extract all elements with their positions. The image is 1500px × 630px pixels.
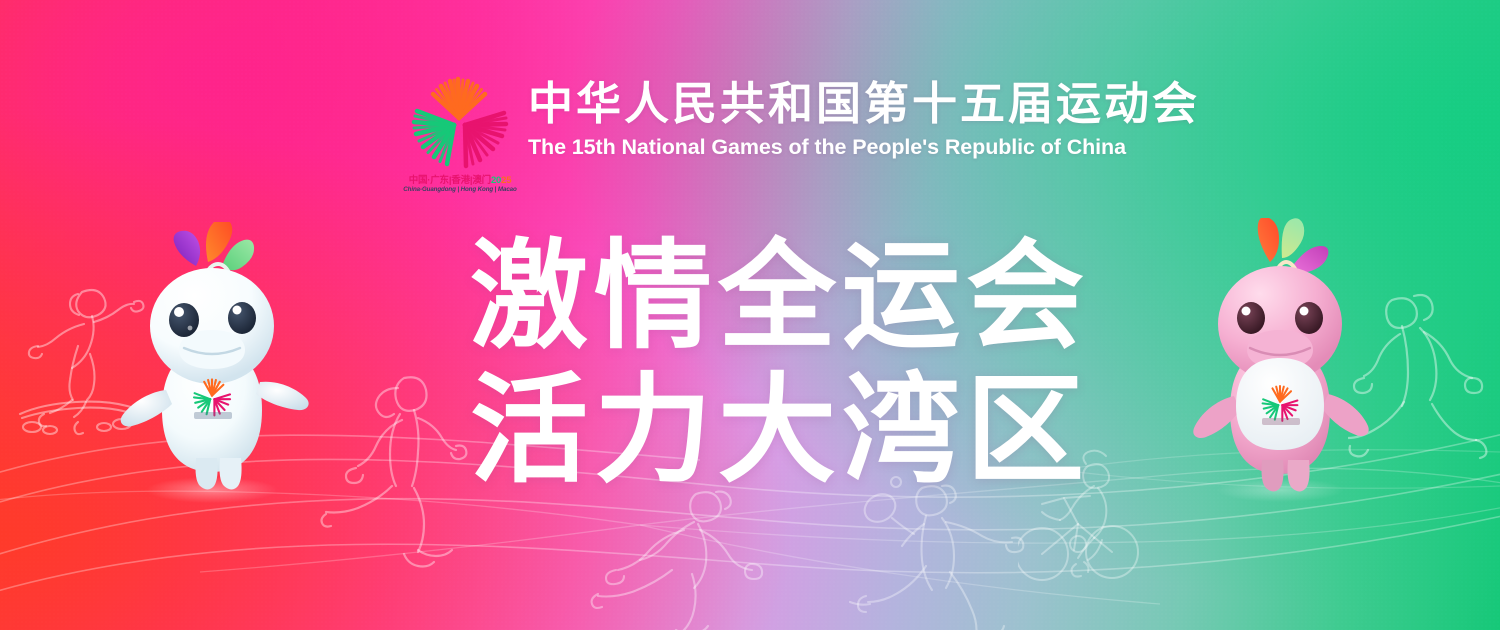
- slogan-line-1: 激情全运会: [470, 238, 1090, 356]
- emblem-caption-cn: 中国·广东|香港|澳门2025: [402, 176, 518, 186]
- pinwheel-flower-emblem: [408, 74, 512, 174]
- emblem-caption-en: China-Guangdong | Hong Kong | Macao: [402, 187, 518, 193]
- emblem-caption: 中国·广东|香港|澳门2025 China-Guangdong | Hong K…: [402, 176, 518, 193]
- title-chinese: 中华人民共和国第十五届运动会: [528, 80, 1200, 129]
- emblem-year-orange: 25: [501, 175, 511, 186]
- emblem-year-green: 20: [491, 175, 501, 186]
- header-lockup: 中国·广东|香港|澳门2025 China-Guangdong | Hong K…: [406, 74, 1200, 193]
- mascot-right-pink-dolphin: [1176, 218, 1386, 513]
- promo-banner: 中国·广东|香港|澳门2025 China-Guangdong | Hong K…: [0, 0, 1500, 630]
- mascot-left-white-dolphin: [108, 222, 318, 512]
- slogan-line-2: 活力大湾区: [470, 372, 1090, 490]
- title-english: The 15th National Games of the People's …: [528, 135, 1200, 160]
- slogan-block: 激情全运会 活力大湾区: [470, 238, 1090, 490]
- games-emblem: 中国·广东|香港|澳门2025 China-Guangdong | Hong K…: [406, 74, 514, 193]
- title-block: 中华人民共和国第十五届运动会 The 15th National Games o…: [528, 74, 1200, 160]
